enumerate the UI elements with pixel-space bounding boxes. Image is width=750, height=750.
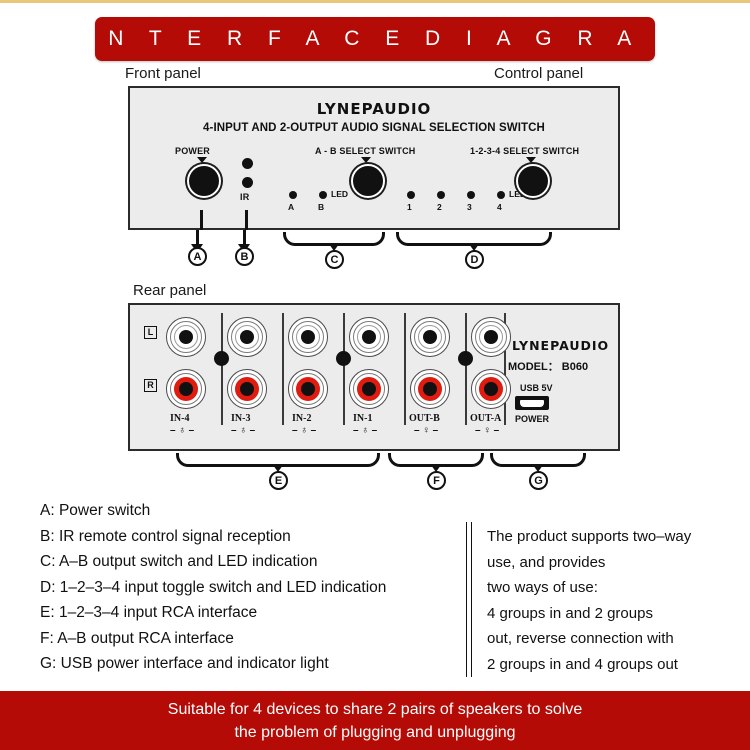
rca-jack-in2-left[interactable] (288, 317, 328, 357)
rca-jack-in4-left[interactable] (166, 317, 206, 357)
title-banner: I N T E R F A C E D I A G R A M (95, 17, 655, 61)
footer-line-2: the problem of plugging and unplugging (234, 721, 515, 744)
divider-4 (404, 313, 406, 425)
legend-item-b: B: IR remote control signal reception (40, 524, 470, 550)
rear-panel-illustration: L R IN-4 – ♁ – IN-3 – ♁ – IN-2 – ♁ – (128, 303, 620, 451)
annotation-f: F (427, 471, 446, 490)
power-pointer-icon (197, 157, 207, 163)
ab-select-switch-label: A - B SELECT SWITCH (315, 146, 415, 156)
rca-jack-outa-right[interactable] (471, 369, 511, 409)
rca-jack-outb-left[interactable] (410, 317, 450, 357)
legend-item-f: F: A–B output RCA interface (40, 626, 470, 652)
jack-symbol-outb-icon: – ♀ – (414, 425, 438, 436)
jack-label-in2: IN-2 (292, 413, 311, 424)
led-2-label: 2 (437, 202, 442, 212)
caption-rear-panel: Rear panel (133, 282, 206, 299)
jack-label-in1: IN-1 (353, 413, 372, 424)
jack-symbol-in1-icon: – ♁ – (353, 425, 377, 436)
stem-ir (245, 210, 248, 230)
jack-label-in4: IN-4 (170, 413, 189, 424)
front-panel-subtitle: 4-INPUT AND 2-OUTPUT AUDIO SIGNAL SELECT… (130, 122, 618, 134)
rear-panel-brand: LYNEPAUDIO (512, 338, 609, 353)
rca-jack-in1-left[interactable] (349, 317, 389, 357)
top-gold-rule (0, 0, 750, 3)
rca-jack-in1-right[interactable] (349, 369, 389, 409)
note-line-4: 4 groups in and 2 groups (487, 601, 737, 627)
page-title: I N T E R F A C E D I A G R A M (67, 27, 684, 51)
annotation-e: E (269, 471, 288, 490)
legend-item-a: A: Power switch (40, 498, 470, 524)
annotation-d: D (465, 250, 484, 269)
usb-port-icon[interactable] (515, 396, 549, 410)
legend-item-e: E: 1–2–3–4 input RCA interface (40, 600, 470, 626)
ir-dot-bottom-icon (242, 177, 253, 188)
power-knob[interactable] (187, 164, 221, 198)
led-4-indicator (497, 191, 505, 199)
power-label: POWER (175, 146, 210, 156)
usb-voltage-label: USB 5V (520, 383, 553, 393)
annotation-b: B (235, 247, 254, 266)
jack-symbol-in2-icon: – ♁ – (292, 425, 316, 436)
divider-2 (282, 313, 284, 425)
caption-front-panel: Front panel (125, 65, 201, 82)
interface-diagram-page: I N T E R F A C E D I A G R A M Front pa… (0, 0, 750, 750)
num-select-switch-label: 1-2-3-4 SELECT SWITCH (470, 146, 579, 156)
caption-control-panel: Control panel (494, 65, 583, 82)
num-select-knob[interactable] (516, 164, 550, 198)
rca-jack-outb-right[interactable] (410, 369, 450, 409)
usb-power-label: POWER (515, 414, 549, 424)
row-label-right: R (144, 379, 157, 392)
rca-jack-in3-left[interactable] (227, 317, 267, 357)
note-line-6: 2 groups in and 4 groups out (487, 652, 737, 678)
divider-1 (221, 313, 223, 425)
jack-symbol-outa-icon: – ♀ – (475, 425, 499, 436)
jack-label-in3: IN-3 (231, 413, 250, 424)
annotation-c: C (325, 250, 344, 269)
led-word-ab: LED (331, 189, 348, 199)
stem-power (200, 210, 203, 230)
note-line-3: two ways of use: (487, 575, 737, 601)
jack-symbol-in4-icon: – ♁ – (170, 425, 194, 436)
pair-dot-1-icon (214, 351, 229, 366)
rca-jack-in2-right[interactable] (288, 369, 328, 409)
led-1-label: 1 (407, 202, 412, 212)
front-panel-illustration: LYNEPAUDIO 4-INPUT AND 2-OUTPUT AUDIO SI… (128, 86, 620, 230)
front-panel-brand: LYNEPAUDIO (130, 100, 618, 118)
led-2-indicator (437, 191, 445, 199)
note-line-2: use, and provides (487, 550, 737, 576)
divider-3 (343, 313, 345, 425)
row-label-left: L (144, 326, 157, 339)
rca-jack-in4-right[interactable] (166, 369, 206, 409)
ir-dot-top-icon (242, 158, 253, 169)
rca-jack-in3-right[interactable] (227, 369, 267, 409)
rca-jack-outa-left[interactable] (471, 317, 511, 357)
annotation-g: G (529, 471, 548, 490)
led-a-label: A (288, 202, 294, 212)
note-block: The product supports two–way use, and pr… (487, 524, 737, 677)
legend-list: A: Power switch B: IR remote control sig… (40, 498, 470, 677)
jack-label-outb: OUT-B (409, 413, 440, 424)
legend-item-d: D: 1–2–3–4 input toggle switch and LED i… (40, 575, 470, 601)
divider-5 (465, 313, 467, 425)
legend-item-g: G: USB power interface and indicator lig… (40, 651, 470, 677)
pair-dot-3-icon (458, 351, 473, 366)
note-divider (466, 522, 472, 677)
led-a-indicator (289, 191, 297, 199)
annotation-a: A (188, 247, 207, 266)
num-select-pointer-icon (526, 157, 536, 163)
led-3-label: 3 (467, 202, 472, 212)
ir-label: IR (240, 192, 249, 202)
rear-panel-model: MODEL： B060 (508, 358, 588, 374)
footer-banner: Suitable for 4 devices to share 2 pairs … (0, 691, 750, 750)
ab-select-knob[interactable] (351, 164, 385, 198)
ab-select-pointer-icon (361, 157, 371, 163)
led-1-indicator (407, 191, 415, 199)
jack-label-outa: OUT-A (470, 413, 501, 424)
pair-dot-2-icon (336, 351, 351, 366)
led-3-indicator (467, 191, 475, 199)
jack-symbol-in3-icon: – ♁ – (231, 425, 255, 436)
note-line-1: The product supports two–way (487, 524, 737, 550)
note-line-5: out, reverse connection with (487, 626, 737, 652)
legend-item-c: C: A–B output switch and LED indication (40, 549, 470, 575)
led-b-label: B (318, 202, 324, 212)
led-4-label: 4 (497, 202, 502, 212)
led-b-indicator (319, 191, 327, 199)
footer-line-1: Suitable for 4 devices to share 2 pairs … (168, 698, 582, 721)
